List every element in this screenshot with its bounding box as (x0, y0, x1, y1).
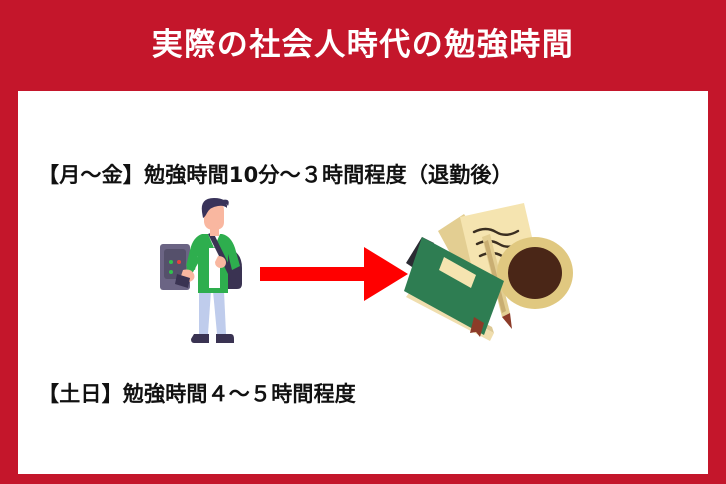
pants (199, 291, 226, 334)
commuter-man-illustration (158, 196, 268, 351)
shoes (191, 334, 234, 343)
coffee-cup-icon (497, 237, 573, 309)
weekday-study-time-text: 【月〜金】勉強時間10分〜３時間程度（退勤後） (38, 159, 513, 189)
weekend-study-time-text: 【土日】勉強時間４〜５時間程度 (38, 378, 356, 408)
title-band: 実際の社会人時代の勉強時間 (0, 0, 726, 91)
content-card: 【月〜金】勉強時間10分〜３時間程度（退勤後） (18, 91, 708, 474)
page-title: 実際の社会人時代の勉強時間 (152, 30, 575, 61)
illustration-row (18, 196, 708, 356)
right-arrow-icon (256, 244, 411, 304)
study-materials-illustration (398, 201, 578, 346)
slide-root: 実際の社会人時代の勉強時間 【月〜金】勉強時間10分〜３時間程度（退勤後） (0, 0, 726, 484)
head (202, 198, 229, 230)
